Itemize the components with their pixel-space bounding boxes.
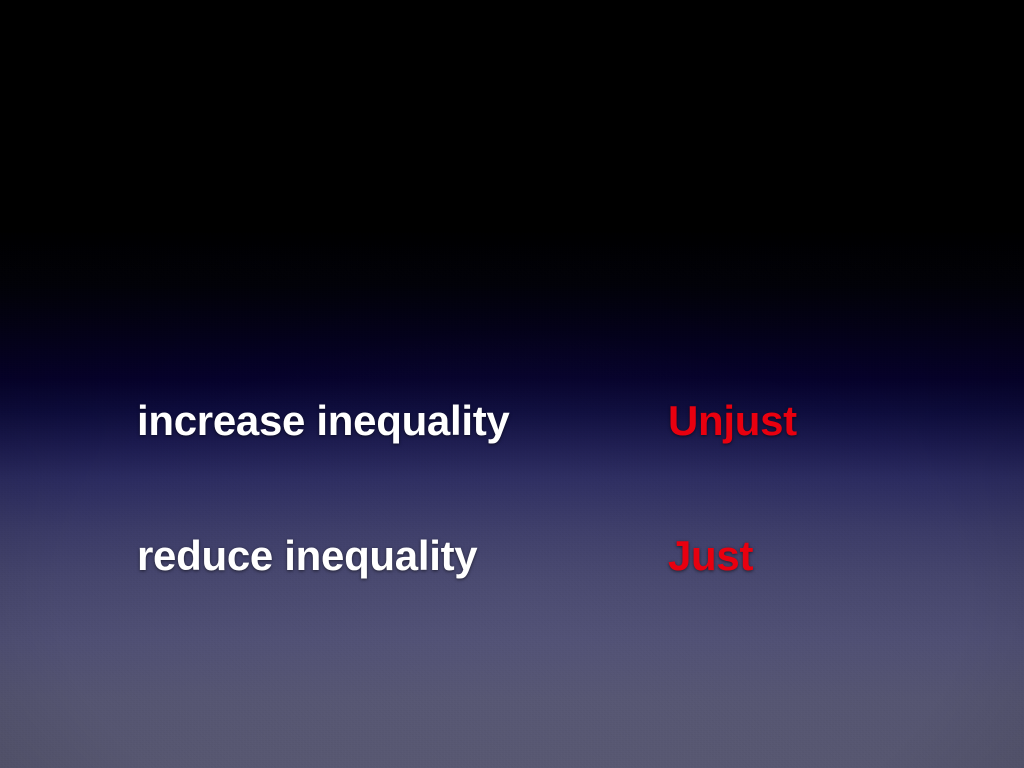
- row-1-phrase-label: increase inequality: [137, 398, 509, 444]
- row-2-phrase-label: reduce inequality: [137, 533, 477, 579]
- slide-row-reduce-inequality: reduce inequality Just: [137, 533, 477, 579]
- row-1-verdict-label: Unjust: [668, 398, 797, 444]
- slide-content: increase inequality Unjust reduce inequa…: [0, 0, 1024, 768]
- slide-canvas: increase inequality Unjust reduce inequa…: [0, 0, 1024, 768]
- slide-row-increase-inequality: increase inequality Unjust: [137, 398, 509, 444]
- row-2-verdict-label: Just: [668, 533, 753, 579]
